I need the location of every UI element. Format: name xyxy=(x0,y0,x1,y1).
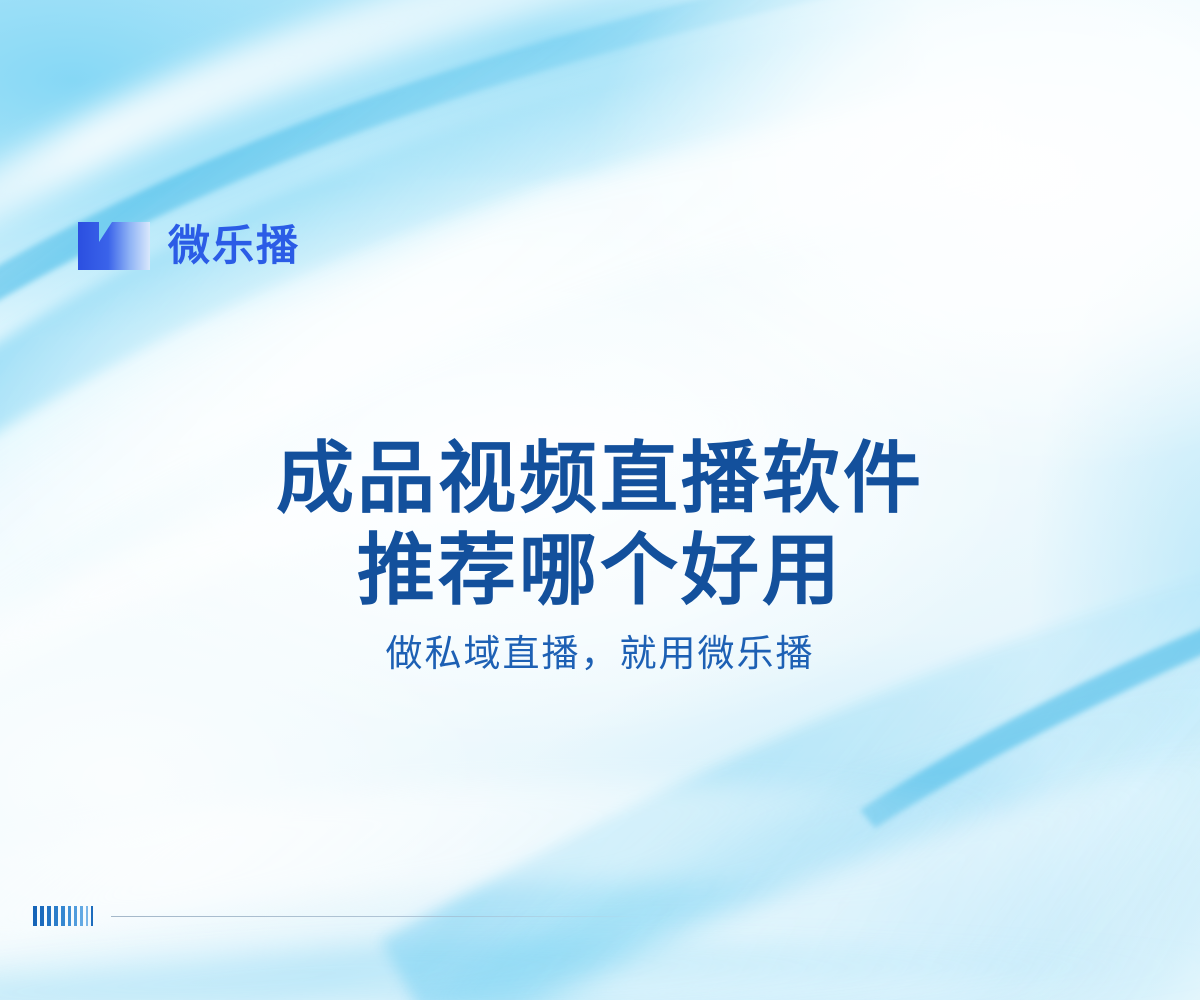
footer-divider-rule xyxy=(111,916,641,917)
barcode-bars-icon xyxy=(33,906,93,926)
headline-line-2: 推荐哪个好用 xyxy=(0,524,1200,616)
brand-logo: 微乐播 xyxy=(78,222,300,270)
brand-name: 微乐播 xyxy=(168,225,300,267)
headline-line-1: 成品视频直播软件 xyxy=(0,432,1200,524)
headline-block: 成品视频直播软件 推荐哪个好用 xyxy=(0,432,1200,616)
footer-decoration xyxy=(33,906,1163,926)
subtitle-tagline: 做私域直播，就用微乐播 xyxy=(0,630,1200,678)
poster-canvas: 微乐播 成品视频直播软件 推荐哪个好用 做私域直播，就用微乐播 xyxy=(0,0,1200,1000)
weleibo-mark-icon xyxy=(78,222,150,270)
